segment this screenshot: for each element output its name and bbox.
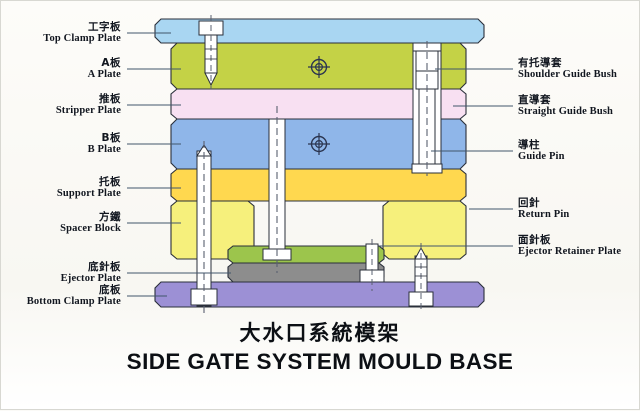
label-shoulder-guide-bush: 有托導套 Shoulder Guide Bush [518,58,617,81]
label-a-plate: A板 A Plate [88,58,121,81]
plate-spacer-block-right [383,201,466,259]
mould-base-diagram-page: 工字板 Top Clamp Plate A板 A Plate 推板 Stripp… [0,0,640,410]
label-ejector-plate-en: Ejector Plate [61,273,121,284]
label-top-clamp-plate-cn: 工字板 [43,22,121,33]
label-bottom-clamp-plate: 底板 Bottom Clamp Plate [27,285,121,308]
label-stripper-plate-cn: 推板 [56,94,121,105]
label-straight-guide-bush-en: Straight Guide Bush [518,106,613,117]
label-a-plate-cn: A板 [88,58,121,69]
label-spacer-block: 方鐵 Spacer Block [60,212,121,235]
label-b-plate-cn: B板 [88,133,121,144]
page-title: 大水口系統模架 SIDE GATE SYSTEM MOULD BASE [1,317,639,375]
label-return-pin-cn: 回針 [518,198,569,209]
label-spacer-block-en: Spacer Block [60,223,121,234]
label-support-plate-cn: 托板 [57,177,121,188]
plate-support-plate [171,169,466,201]
label-spacer-block-cn: 方鐵 [60,212,121,223]
label-stripper-plate: 推板 Stripper Plate [56,94,121,117]
label-return-pin-en: Return Pin [518,209,569,220]
label-support-plate: 托板 Support Plate [57,177,121,200]
label-ejector-retainer-plate-en: Ejector Retainer Plate [518,246,621,257]
page-title-english: SIDE GATE SYSTEM MOULD BASE [1,349,639,375]
label-ejector-plate-cn: 底針板 [61,262,121,273]
page-title-chinese: 大水口系統模架 [1,317,639,347]
label-guide-pin: 導柱 Guide Pin [518,140,565,163]
label-a-plate-en: A Plate [88,69,121,80]
label-bottom-clamp-plate-cn: 底板 [27,285,121,296]
label-shoulder-guide-bush-en: Shoulder Guide Bush [518,69,617,80]
label-shoulder-guide-bush-cn: 有托導套 [518,58,617,69]
label-top-clamp-plate: 工字板 Top Clamp Plate [43,22,121,45]
label-support-plate-en: Support Plate [57,188,121,199]
label-bottom-clamp-plate-en: Bottom Clamp Plate [27,296,121,307]
plate-ejector-retainer-plate [228,246,384,263]
label-ejector-plate: 底針板 Ejector Plate [61,262,121,285]
label-guide-pin-cn: 導柱 [518,140,565,151]
label-top-clamp-plate-en: Top Clamp Plate [43,33,121,44]
label-guide-pin-en: Guide Pin [518,151,565,162]
label-ejector-retainer-plate-cn: 面針板 [518,235,621,246]
label-straight-guide-bush: 直導套 Straight Guide Bush [518,95,613,118]
label-straight-guide-bush-cn: 直導套 [518,95,613,106]
label-return-pin: 回針 Return Pin [518,198,569,221]
label-b-plate-en: B Plate [88,144,121,155]
label-ejector-retainer-plate: 面針板 Ejector Retainer Plate [518,235,621,258]
label-stripper-plate-en: Stripper Plate [56,105,121,116]
label-b-plate: B板 B Plate [88,133,121,156]
return-pin-shaft [366,244,378,270]
